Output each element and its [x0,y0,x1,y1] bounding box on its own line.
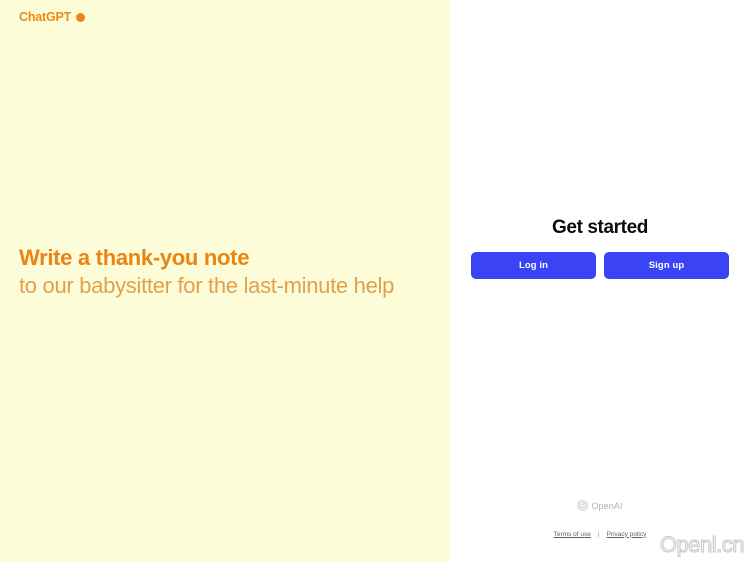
openai-wordmark: OpenAI [591,502,622,511]
app-screen: ChatGPT Write a thank-you note to our ba… [0,0,750,562]
signup-button[interactable]: Sign up [604,252,729,279]
page-footer: OpenAI Terms of use | Privacy policy [450,498,750,539]
example-prompt: Write a thank-you note to our babysitter… [19,244,419,300]
legal-separator: | [598,532,600,539]
terms-of-use-link[interactable]: Terms of use [554,532,591,539]
chatgpt-dot-icon [76,13,85,22]
openai-branding: OpenAI [450,498,750,516]
right-auth-panel: Get started Log in Sign up OpenAI Terms … [450,0,750,562]
chatgpt-brand: ChatGPT [19,11,85,24]
login-button[interactable]: Log in [471,252,596,279]
left-promo-panel: ChatGPT Write a thank-you note to our ba… [0,0,450,562]
privacy-policy-link[interactable]: Privacy policy [607,532,647,539]
legal-links: Terms of use | Privacy policy [450,532,750,539]
get-started-heading: Get started [450,216,750,240]
auth-button-group: Log in Sign up [450,252,750,279]
example-prompt-secondary: to our babysitter for the last-minute he… [19,272,419,300]
auth-block: Get started Log in Sign up [450,216,750,279]
chatgpt-wordmark: ChatGPT [19,11,71,24]
openai-logo-icon [577,498,588,516]
example-prompt-primary: Write a thank-you note [19,244,419,272]
